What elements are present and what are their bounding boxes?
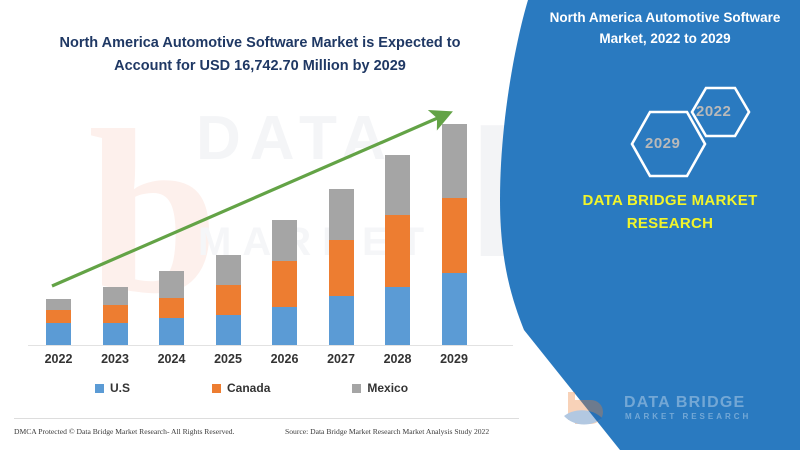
x-axis-label-2025: 2025 — [205, 352, 251, 366]
bar-2025[interactable] — [216, 255, 241, 345]
bar-segment-mexico-2025 — [216, 255, 241, 285]
bar-segment-us-2025 — [216, 315, 241, 345]
hexagon-shapes — [588, 82, 773, 197]
legend-item-us[interactable]: U.S — [95, 381, 130, 395]
x-axis-label-2022: 2022 — [36, 352, 82, 366]
bar-segment-canada-2025 — [216, 285, 241, 315]
legend-item-canada[interactable]: Canada — [212, 381, 270, 395]
bar-segment-mexico-2029 — [442, 124, 467, 198]
bar-segment-us-2022 — [46, 323, 71, 345]
brand-name-line2: RESEARCH — [627, 215, 714, 232]
brand-name: DATA BRIDGE MARKET RESEARCH — [550, 190, 790, 235]
bar-segment-us-2026 — [272, 307, 297, 345]
footer-divider — [14, 418, 519, 419]
bar-segment-canada-2026 — [272, 261, 297, 307]
bar-segment-canada-2029 — [442, 198, 467, 273]
infographic-root: b DATA MARKET BR North America Automotiv… — [0, 0, 800, 450]
logo-mark-icon — [562, 390, 620, 434]
bar-2029[interactable] — [442, 124, 467, 345]
bar-segment-mexico-2023 — [103, 287, 128, 305]
x-axis-label-2028: 2028 — [375, 352, 421, 366]
legend-swatch-canada — [212, 384, 221, 393]
brand-name-line1: DATA BRIDGE MARKET — [582, 192, 757, 209]
brand-panel-content: North America Automotive Software Market… — [540, 0, 800, 450]
bar-segment-mexico-2026 — [272, 220, 297, 261]
x-axis-label-2026: 2026 — [262, 352, 308, 366]
legend-swatch-mexico — [352, 384, 361, 393]
chart-legend: U.S Canada Mexico — [95, 381, 408, 395]
legend-label-canada: Canada — [227, 381, 270, 395]
footer-source: Source: Data Bridge Market Research Mark… — [285, 427, 489, 436]
chart-baseline — [28, 345, 513, 346]
footer-copyright: DMCA Protected © Data Bridge Market Rese… — [14, 427, 234, 436]
legend-label-mexico: Mexico — [367, 381, 408, 395]
legend-label-us: U.S — [110, 381, 130, 395]
bar-segment-canada-2024 — [159, 298, 184, 318]
bar-2028[interactable] — [385, 155, 410, 345]
x-axis-label-2024: 2024 — [149, 352, 195, 366]
bar-segment-us-2023 — [103, 323, 128, 345]
logo-title: DATA BRIDGE — [624, 394, 745, 412]
bar-2026[interactable] — [272, 220, 297, 345]
panel-title: North America Automotive Software Market… — [536, 8, 794, 50]
bar-2027[interactable] — [329, 189, 354, 345]
bar-segment-us-2027 — [329, 296, 354, 345]
bar-2023[interactable] — [103, 287, 128, 345]
bar-segment-mexico-2022 — [46, 299, 71, 310]
bar-segment-us-2024 — [159, 318, 184, 345]
x-axis-label-2023: 2023 — [92, 352, 138, 366]
logo-subtitle: MARKET RESEARCH — [625, 412, 751, 421]
bar-segment-us-2028 — [385, 287, 410, 345]
bar-segment-mexico-2027 — [329, 189, 354, 240]
bar-segment-canada-2023 — [103, 305, 128, 323]
hexagon-label-2029: 2029 — [645, 135, 680, 152]
brand-logo: DATA BRIDGE MARKET RESEARCH — [562, 390, 782, 438]
bar-segment-us-2029 — [442, 273, 467, 345]
bar-segment-canada-2027 — [329, 240, 354, 296]
bar-segment-canada-2022 — [46, 310, 71, 323]
legend-item-mexico[interactable]: Mexico — [352, 381, 408, 395]
x-axis-label-2029: 2029 — [431, 352, 477, 366]
bar-2022[interactable] — [46, 299, 71, 345]
hexagon-label-2022: 2022 — [696, 103, 731, 120]
x-axis-label-2027: 2027 — [318, 352, 364, 366]
bar-segment-mexico-2024 — [159, 271, 184, 298]
bar-2024[interactable] — [159, 271, 184, 345]
bar-segment-mexico-2028 — [385, 155, 410, 215]
hexagon-group: 2022 2029 — [588, 82, 773, 197]
bar-segment-canada-2028 — [385, 215, 410, 287]
left-content-pane: North America Automotive Software Market… — [0, 0, 540, 450]
legend-swatch-us — [95, 384, 104, 393]
